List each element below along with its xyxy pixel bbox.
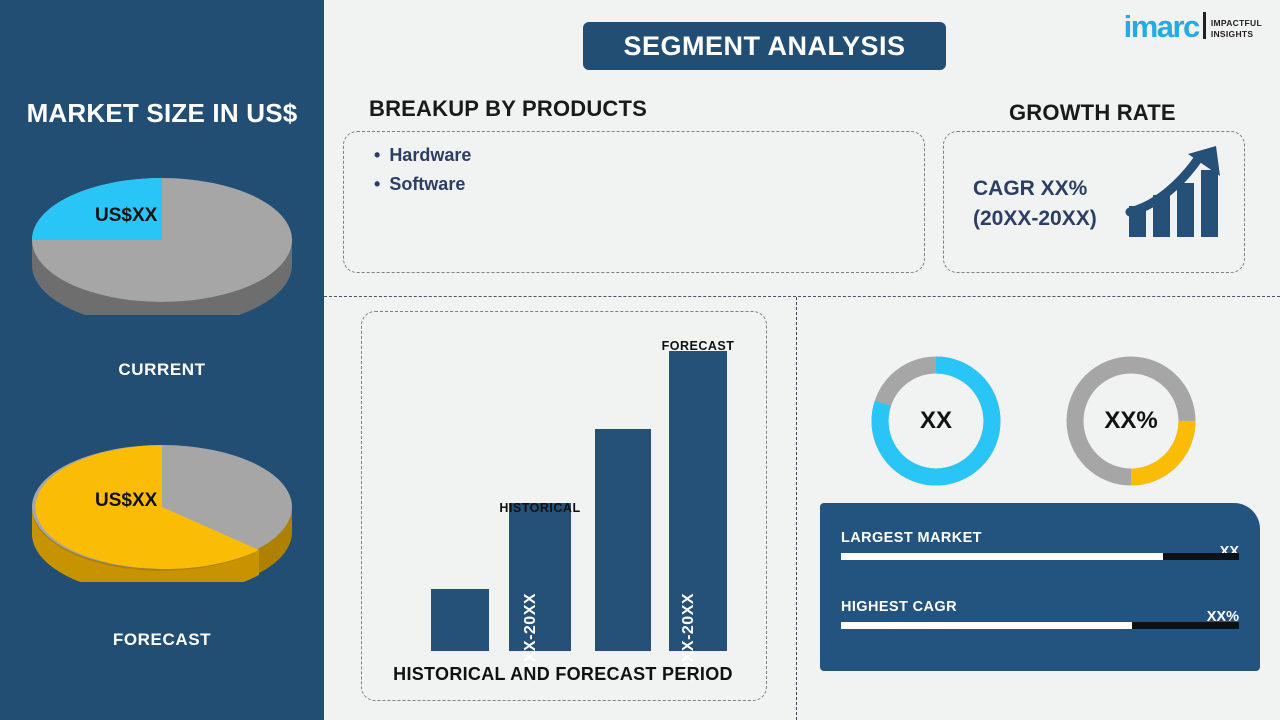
logo-divider-icon (1203, 12, 1206, 39)
market-size-panel: MARKET SIZE IN US$ US$XX CURRENT (0, 0, 324, 720)
stat-progress-track (841, 622, 1239, 629)
pie-current-svg (27, 165, 297, 315)
bar-2 (595, 429, 651, 651)
list-item: Software (374, 170, 894, 199)
page-title: SEGMENT ANALYSIS (583, 22, 946, 70)
growth-arrow-bars-icon (1124, 142, 1229, 252)
stat-label: HIGHEST CAGR (841, 599, 957, 615)
forecast-pie-caption: FORECAST (0, 630, 324, 650)
bar-1: 20XX-20XX (509, 503, 571, 651)
stat-progress-track (841, 553, 1239, 560)
market-share-donut: XX% (1061, 351, 1201, 491)
stats-card: LARGEST MARKET XX HIGHEST CAGR XX% (820, 503, 1260, 671)
imarc-logo: imarc IMPACTFUL INSIGHTS (1124, 12, 1262, 41)
stat-progress-fill (841, 553, 1163, 560)
market-value-donut-label: XX (866, 351, 1006, 491)
growth-heading: GROWTH RATE (1009, 100, 1176, 126)
market-size-title: MARKET SIZE IN US$ (0, 98, 324, 129)
stat-progress-fill (841, 622, 1132, 629)
breakup-heading: BREAKUP BY PRODUCTS (369, 96, 647, 122)
logo-tagline: IMPACTFUL INSIGHTS (1211, 18, 1262, 41)
market-share-donut-label: XX% (1061, 351, 1201, 491)
logo-wordmark: imarc (1124, 12, 1199, 41)
forecast-pie-chart: US$XX FORECAST (0, 432, 324, 650)
market-value-donut: XX (866, 351, 1006, 491)
list-item: Hardware (374, 141, 894, 170)
pie-forecast-svg (27, 432, 297, 582)
pie-3d-current: US$XX (27, 165, 297, 315)
bar-0 (431, 589, 489, 651)
current-pie-caption: CURRENT (0, 360, 324, 380)
logo-tagline-line2: INSIGHTS (1211, 29, 1262, 40)
growth-cagr-text: CAGR XX% (20XX-20XX) (973, 174, 1097, 234)
chart-caption: HISTORICAL AND FORECAST PERIOD (361, 664, 765, 685)
current-pie-chart: US$XX CURRENT (0, 165, 324, 380)
breakup-list: Hardware Software (374, 141, 894, 199)
forecast-annotation: FORECAST (662, 339, 735, 353)
logo-tagline-line1: IMPACTFUL (1211, 18, 1262, 29)
growth-cagr-line2: (20XX-20XX) (973, 204, 1097, 234)
infographic-page: MARKET SIZE IN US$ US$XX CURRENT (0, 0, 1280, 720)
stat-row-highest-cagr: HIGHEST CAGR XX% (841, 598, 1239, 629)
stat-label: LARGEST MARKET (841, 530, 982, 546)
growth-cagr-line1: CAGR XX% (973, 174, 1097, 204)
historical-annotation: HISTORICAL (499, 501, 580, 515)
bar-3: 20XX-20XX (669, 351, 727, 651)
pie-3d-forecast: US$XX (27, 432, 297, 582)
main-content: SEGMENT ANALYSIS imarc IMPACTFUL INSIGHT… (324, 0, 1280, 720)
historical-forecast-chart: 20XX-20XX 20XX-20XX HISTORICAL FORECAST … (361, 311, 765, 699)
vertical-divider (796, 297, 797, 720)
horizontal-divider (324, 296, 1280, 297)
stat-row-largest-market: LARGEST MARKET XX (841, 529, 1239, 560)
